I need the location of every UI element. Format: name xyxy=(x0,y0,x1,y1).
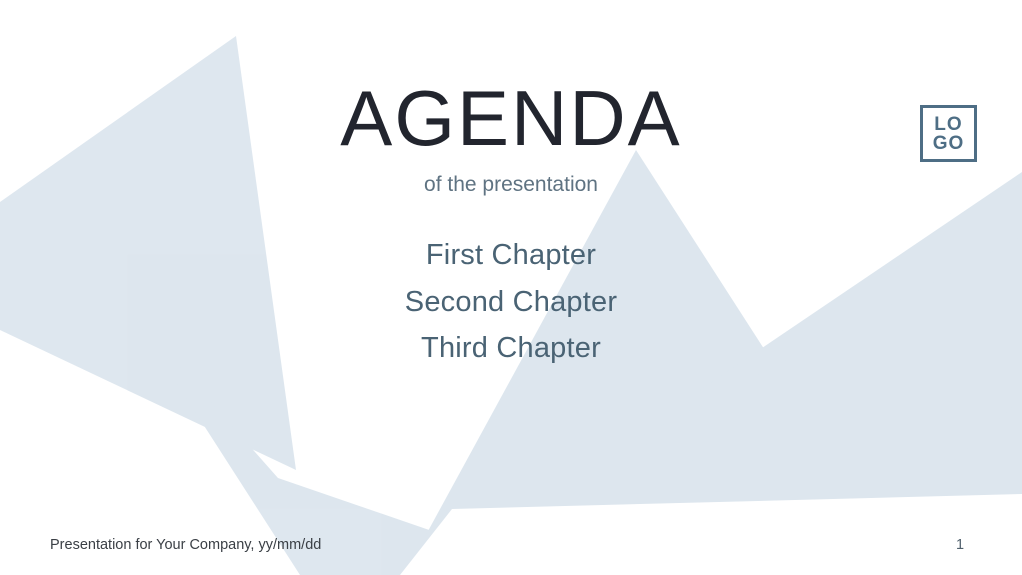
logo-icon[interactable]: LO GO xyxy=(920,105,977,162)
list-item[interactable]: Third Chapter xyxy=(0,325,1022,372)
logo-line-top: LO xyxy=(934,115,962,134)
title-block: AGENDA of the presentation xyxy=(0,76,1022,198)
chapter-list: First Chapter Second Chapter Third Chapt… xyxy=(0,232,1022,372)
page-number: 1 xyxy=(940,536,980,554)
page-subtitle: of the presentation xyxy=(0,172,1022,198)
page-title: AGENDA xyxy=(0,76,1022,160)
logo-line-bottom: GO xyxy=(933,134,965,153)
footer-text: Presentation for Your Company, yy/mm/dd xyxy=(50,536,321,554)
agenda-slide: AGENDA of the presentation First Chapter… xyxy=(0,0,1022,575)
list-item[interactable]: First Chapter xyxy=(0,232,1022,279)
list-item[interactable]: Second Chapter xyxy=(0,279,1022,326)
